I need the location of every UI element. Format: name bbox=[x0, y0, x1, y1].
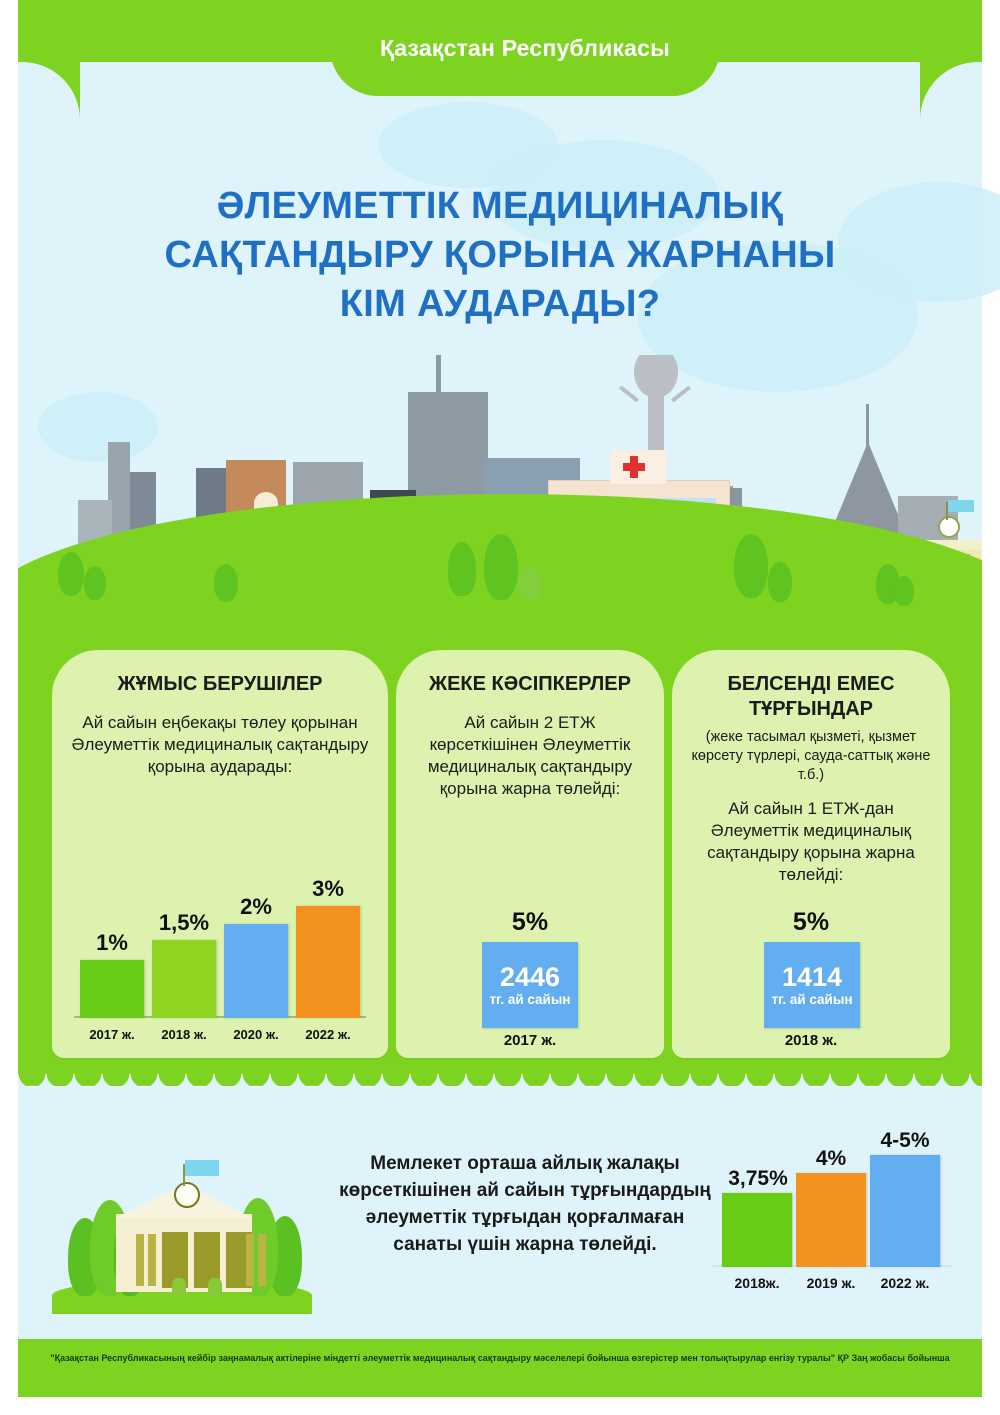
tree-icon bbox=[894, 576, 914, 606]
bar-2019-label: 2019 ж. bbox=[788, 1275, 874, 1291]
state-bar-chart: 3,75% 2018ж. 4% 2019 ж. 4-5% 2022 ж. bbox=[712, 1135, 952, 1295]
footer-band bbox=[18, 1339, 982, 1397]
tree-icon bbox=[484, 534, 518, 600]
band-left-corner bbox=[18, 62, 80, 122]
bottom-description: Мемлекет орташа айлық жалақы көрсеткішін… bbox=[330, 1150, 720, 1258]
inactive-percent: 5% bbox=[672, 908, 950, 937]
bar-2020-value: 2% bbox=[224, 894, 288, 920]
band-right-corner bbox=[920, 62, 982, 122]
card-inactive-title-line-1: БЕЛСЕНДІ ЕМЕС bbox=[672, 672, 950, 697]
column bbox=[246, 1234, 254, 1286]
inactive-amount-box: 1414 тг. ай сайын bbox=[764, 942, 860, 1028]
bar-2017-value: 1% bbox=[80, 930, 144, 956]
skyline-spire bbox=[116, 452, 122, 492]
card-employers-body: Ай сайын еңбекақы төлеу қорынан Әлеуметт… bbox=[64, 712, 376, 778]
bar-2017-label: 2017 ж. bbox=[72, 1027, 152, 1042]
infographic-page: Қазақстан Республикасы ӘЛЕУМЕТТІК МЕДИЦИ… bbox=[0, 0, 1000, 1415]
entrepreneurs-amount-unit: тг. ай сайын bbox=[489, 992, 570, 1008]
bar-2018 bbox=[152, 940, 216, 1018]
tree-icon bbox=[768, 562, 792, 602]
card-entrepreneurs-title: ЖЕКЕ КӘСІПКЕРЛЕР bbox=[396, 672, 664, 697]
card-inactive-title: БЕЛСЕНДІ ЕМЕС ТҰРҒЫНДАР bbox=[672, 672, 950, 722]
inactive-amount-unit: тг. ай сайын bbox=[771, 992, 852, 1008]
card-inactive-body: Ай сайын 1 ЕТЖ-дан Әлеуметтік медициналы… bbox=[684, 798, 938, 886]
card-inactive-residents: БЕЛСЕНДІ ЕМЕС ТҰРҒЫНДАР (жеке тасымал қы… bbox=[672, 650, 950, 1058]
bar-2018 bbox=[722, 1193, 792, 1267]
flag-icon bbox=[185, 1160, 219, 1176]
baiterek-wing bbox=[671, 386, 691, 403]
employers-bar-chart: 1% 2017 ж. 1,5% 2018 ж. 2% 2020 ж. 3% 20… bbox=[74, 896, 366, 1018]
column bbox=[258, 1234, 266, 1286]
card-employers: ЖҰМЫС БЕРУШІЛЕР Ай сайын еңбекақы төлеу … bbox=[52, 650, 388, 1058]
bar-2018-value: 1,5% bbox=[144, 910, 224, 936]
card-entrepreneurs: ЖЕКЕ КӘСІПКЕРЛЕР Ай сайын 2 ЕТЖ көрсеткі… bbox=[396, 650, 664, 1058]
page-title-line-1: ӘЛЕУМЕТТІК МЕДИЦИНАЛЫҚ bbox=[60, 182, 940, 231]
entrepreneurs-percent: 5% bbox=[396, 908, 664, 937]
baiterek-wing bbox=[619, 386, 639, 403]
entrepreneurs-amount: 2446 bbox=[500, 962, 560, 992]
card-employers-title: ЖҰМЫС БЕРУШІЛЕР bbox=[52, 672, 388, 697]
shrub bbox=[208, 1278, 222, 1296]
khanshatyr-spire bbox=[866, 404, 869, 448]
column bbox=[136, 1234, 144, 1286]
scalloped-divider bbox=[18, 1074, 982, 1096]
bar-2022-label: 2022 ж. bbox=[288, 1027, 368, 1042]
inactive-year: 2018 ж. bbox=[672, 1032, 950, 1049]
skyline-antenna bbox=[436, 355, 441, 398]
bar-2019-value: 4% bbox=[796, 1147, 866, 1171]
bar-2017 bbox=[80, 960, 144, 1018]
page-title-line-2: САҚТАНДЫРУ ҚОРЫНА ЖАРНАНЫ bbox=[60, 231, 940, 280]
clock-icon bbox=[174, 1182, 200, 1208]
government-building-illustration bbox=[52, 1118, 312, 1314]
footer-source-note: "Қазақстан Республикасының кейбір заңнам… bbox=[18, 1352, 982, 1364]
baiterek-sphere bbox=[634, 355, 678, 398]
entrepreneurs-year: 2017 ж. bbox=[396, 1032, 664, 1049]
tree-icon bbox=[448, 542, 476, 596]
column bbox=[148, 1234, 156, 1286]
clock-icon bbox=[938, 516, 960, 538]
bar-2018-value: 3,75% bbox=[712, 1167, 804, 1191]
bar-2022 bbox=[296, 906, 360, 1018]
country-label: Қазақстан Республикасы bbox=[330, 0, 720, 96]
bar-2020 bbox=[224, 924, 288, 1018]
card-entrepreneurs-body: Ай сайын 2 ЕТЖ көрсеткішінен Әлеуметтік … bbox=[408, 712, 652, 800]
tree-icon bbox=[214, 564, 238, 602]
bar-2020-label: 2020 ж. bbox=[216, 1027, 296, 1042]
bar-2022-value: 3% bbox=[296, 876, 360, 902]
page-title: ӘЛЕУМЕТТІК МЕДИЦИНАЛЫҚ САҚТАНДЫРУ ҚОРЫНА… bbox=[60, 182, 940, 329]
tree-icon bbox=[518, 566, 542, 602]
card-inactive-note: (жеке тасымал қызметі, қызмет көрсету тү… bbox=[684, 728, 938, 785]
hospital-cross-icon bbox=[623, 463, 645, 471]
tree-icon bbox=[84, 566, 106, 600]
cityscape-illustration bbox=[18, 355, 982, 610]
card-inactive-title-line-2: ТҰРҒЫНДАР bbox=[672, 697, 950, 722]
bar-2022 bbox=[870, 1155, 940, 1267]
bar-2022-label: 2022 ж. bbox=[864, 1275, 946, 1291]
bar-2019 bbox=[796, 1173, 866, 1267]
tree-icon bbox=[58, 552, 84, 596]
tree-icon bbox=[734, 534, 768, 598]
bar-2018-label: 2018 ж. bbox=[144, 1027, 224, 1042]
shrub bbox=[172, 1278, 186, 1296]
entrepreneurs-amount-box: 2446 тг. ай сайын bbox=[482, 942, 578, 1028]
flag-icon bbox=[948, 500, 974, 512]
page-title-line-3: КІМ АУДАРАДЫ? bbox=[60, 280, 940, 329]
bar-2022-value: 4-5% bbox=[862, 1129, 948, 1153]
inactive-amount: 1414 bbox=[782, 962, 842, 992]
